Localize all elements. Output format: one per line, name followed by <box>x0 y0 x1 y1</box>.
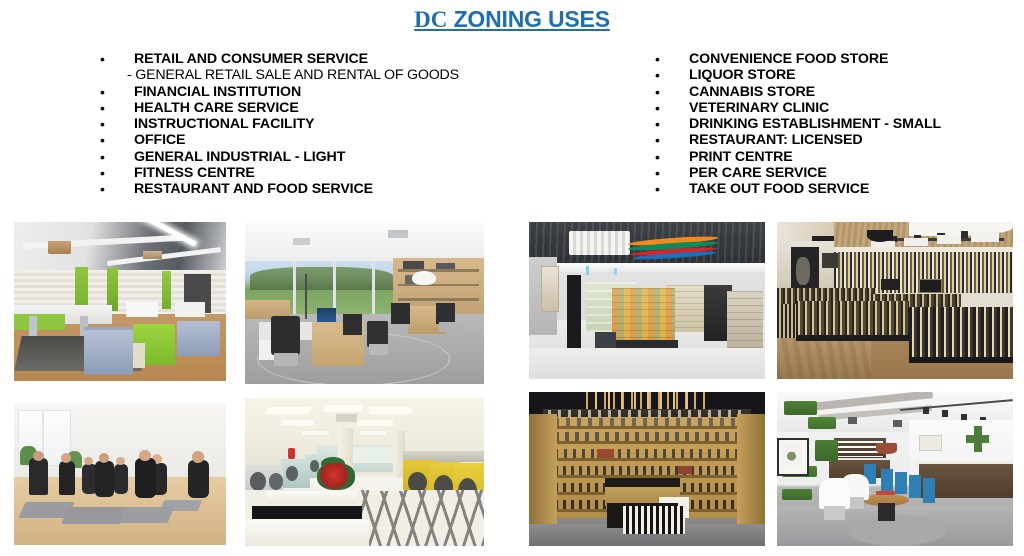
bullet-icon: • <box>655 51 665 67</box>
photo-content <box>777 392 1013 546</box>
bullet-icon: • <box>655 84 665 100</box>
list-item-label: RESTAURANT AND FOOD SERVICE <box>134 181 373 197</box>
list-item-label: OFFICE <box>134 132 185 148</box>
list-item-label: INSTRUCTIONAL FACILITY <box>134 116 314 132</box>
bullet-icon: • <box>100 149 110 165</box>
list-item-label: VETERINARY CLINIC <box>689 100 829 116</box>
photo-content <box>245 222 484 384</box>
list-item[interactable]: • RETAIL AND CONSUMER SERVICE <box>100 51 459 67</box>
list-item-label: RESTAURANT: LICENSED <box>689 132 863 148</box>
bullet-icon: • <box>100 100 110 116</box>
bullet-icon: • <box>100 165 110 181</box>
photo-convenience-food-store <box>529 222 765 379</box>
list-item-label: DRINKING ESTABLISHMENT - SMALL <box>689 116 941 132</box>
photo-content <box>529 222 765 379</box>
bullet-icon: • <box>100 181 110 197</box>
bullet-icon: • <box>100 51 110 67</box>
photo-cannabis-store <box>529 392 765 546</box>
list-item[interactable]: • RESTAURANT AND FOOD SERVICE <box>100 181 459 197</box>
list-item[interactable]: • INSTRUCTIONAL FACILITY <box>100 116 459 132</box>
list-item-label: FINANCIAL INSTITUTION <box>134 84 301 100</box>
list-item[interactable]: • FITNESS CENTRE <box>100 165 459 181</box>
photo-content <box>529 392 765 546</box>
photo-laundromat <box>245 398 484 546</box>
list-item-label: PER CARE SERVICE <box>689 165 827 181</box>
list-item-label: CONVENIENCE FOOD STORE <box>689 51 888 67</box>
photo-content <box>14 403 226 545</box>
list-item-label: RETAIL AND CONSUMER SERVICE <box>134 51 368 67</box>
photo-liquor-store <box>777 222 1013 379</box>
bullet-icon: • <box>100 116 110 132</box>
title-main: ZONING USES <box>447 6 609 32</box>
bullet-icon: • <box>655 165 665 181</box>
photo-fitness-centre-yoga <box>14 403 226 545</box>
page-title: DC ZONING USES <box>0 6 1024 33</box>
bullet-icon: • <box>100 132 110 148</box>
title-prefix: DC <box>414 7 447 32</box>
left-use-list: • RETAIL AND CONSUMER SERVICE - GENERAL … <box>100 51 459 198</box>
list-item[interactable]: • HEALTH CARE SERVICE <box>100 100 459 116</box>
list-item-label: HEALTH CARE SERVICE <box>134 100 299 116</box>
photo-content <box>245 398 484 546</box>
photo-financial-institution-lobby <box>14 222 226 381</box>
list-item-label: CANNABIS STORE <box>689 84 815 100</box>
bullet-icon: • <box>655 116 665 132</box>
bullet-icon: • <box>655 132 665 148</box>
bullet-icon: • <box>655 149 665 165</box>
list-item[interactable]: • FINANCIAL INSTITUTION <box>100 84 459 100</box>
bullet-icon: • <box>655 181 665 197</box>
list-sub-item: - GENERAL RETAIL SALE AND RENTAL OF GOOD… <box>100 67 459 83</box>
list-item-label: LIQUOR STORE <box>689 67 796 83</box>
list-item[interactable]: • GENERAL INDUSTRIAL - LIGHT <box>100 149 459 165</box>
list-item-label: FITNESS CENTRE <box>134 165 255 181</box>
bullet-icon: • <box>655 100 665 116</box>
list-item-label: GENERAL INDUSTRIAL - LIGHT <box>134 149 345 165</box>
list-item-label: PRINT CENTRE <box>689 149 793 165</box>
photo-office-interior <box>245 222 484 384</box>
photo-content <box>14 222 226 381</box>
list-item[interactable]: • OFFICE <box>100 132 459 148</box>
bullet-icon: • <box>100 84 110 100</box>
photo-dispensary-lounge <box>777 392 1013 546</box>
photo-content <box>777 222 1013 379</box>
list-item-label: TAKE OUT FOOD SERVICE <box>689 181 869 197</box>
bullet-icon: • <box>655 67 665 83</box>
